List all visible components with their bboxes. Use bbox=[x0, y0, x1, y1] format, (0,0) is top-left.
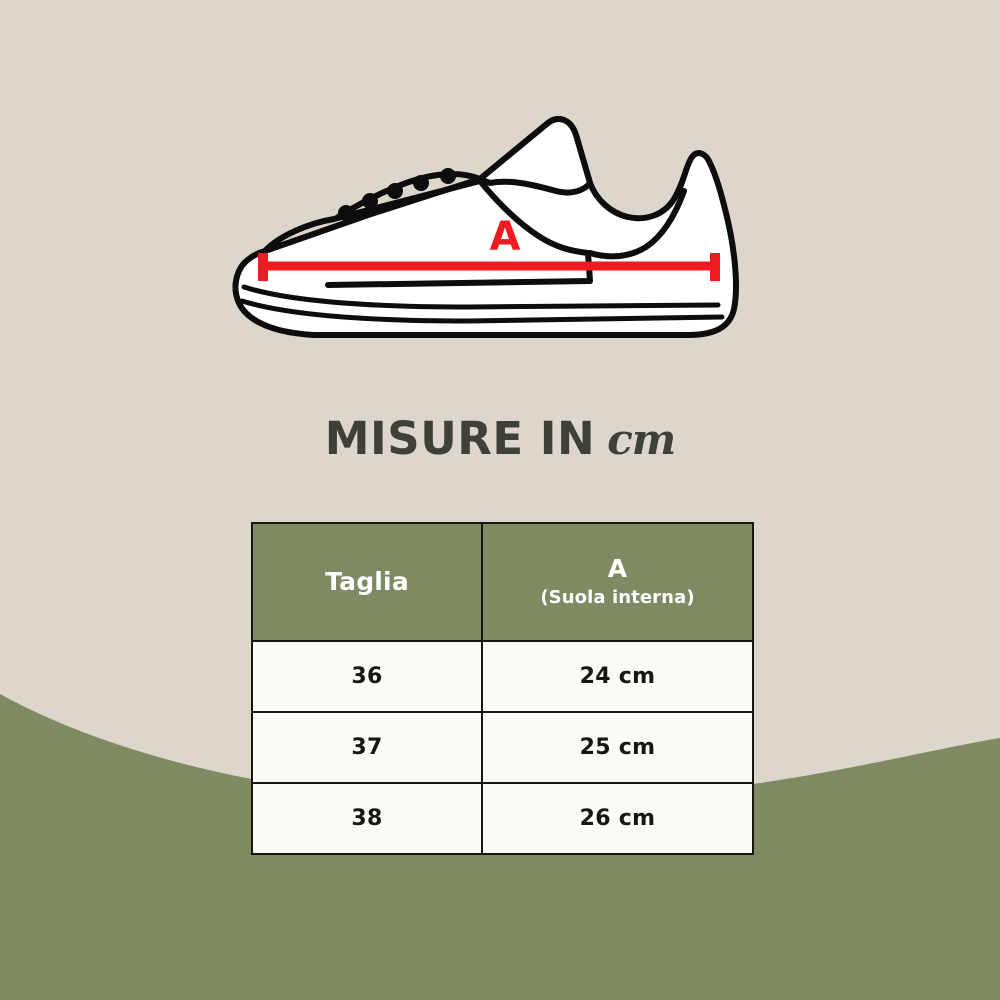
size-chart-page: A MISURE INcm Taglia A (Suola interna) 3… bbox=[0, 0, 1000, 1000]
table-header-row: Taglia A (Suola interna) bbox=[252, 523, 753, 641]
table-body: 36 24 cm 37 25 cm 38 26 cm bbox=[252, 641, 753, 854]
column-header-size: Taglia bbox=[252, 523, 482, 641]
eyelet-icon bbox=[440, 168, 456, 184]
cell-size: 36 bbox=[252, 641, 482, 712]
column-header-size-label: Taglia bbox=[259, 568, 475, 597]
table-row: 38 26 cm bbox=[252, 783, 753, 854]
page-title-main: MISURE IN bbox=[325, 412, 595, 465]
table-row: 36 24 cm bbox=[252, 641, 753, 712]
cell-measure: 26 cm bbox=[482, 783, 753, 854]
measure-label-A: A bbox=[490, 214, 521, 260]
cell-measure: 24 cm bbox=[482, 641, 753, 712]
cell-size: 38 bbox=[252, 783, 482, 854]
shoe-illustration: A bbox=[218, 95, 778, 350]
column-header-measure-sublabel: (Suola interna) bbox=[489, 586, 746, 609]
cell-measure: 25 cm bbox=[482, 712, 753, 783]
page-title: MISURE INcm bbox=[0, 412, 1000, 465]
size-chart-table: Taglia A (Suola interna) 36 24 cm 37 25 … bbox=[251, 522, 754, 855]
column-header-measure-label: A bbox=[489, 555, 746, 584]
sneaker-outline bbox=[235, 119, 736, 335]
cell-size: 37 bbox=[252, 712, 482, 783]
eyelet-icon bbox=[387, 183, 403, 199]
eyelet-icon bbox=[413, 175, 429, 191]
table-row: 37 25 cm bbox=[252, 712, 753, 783]
column-header-measure: A (Suola interna) bbox=[482, 523, 753, 641]
eyelet-icon bbox=[338, 205, 354, 221]
tongue-path bbox=[480, 119, 590, 193]
eyelet-icon bbox=[362, 193, 378, 209]
table-header: Taglia A (Suola interna) bbox=[252, 523, 753, 641]
page-title-unit: cm bbox=[607, 415, 675, 464]
